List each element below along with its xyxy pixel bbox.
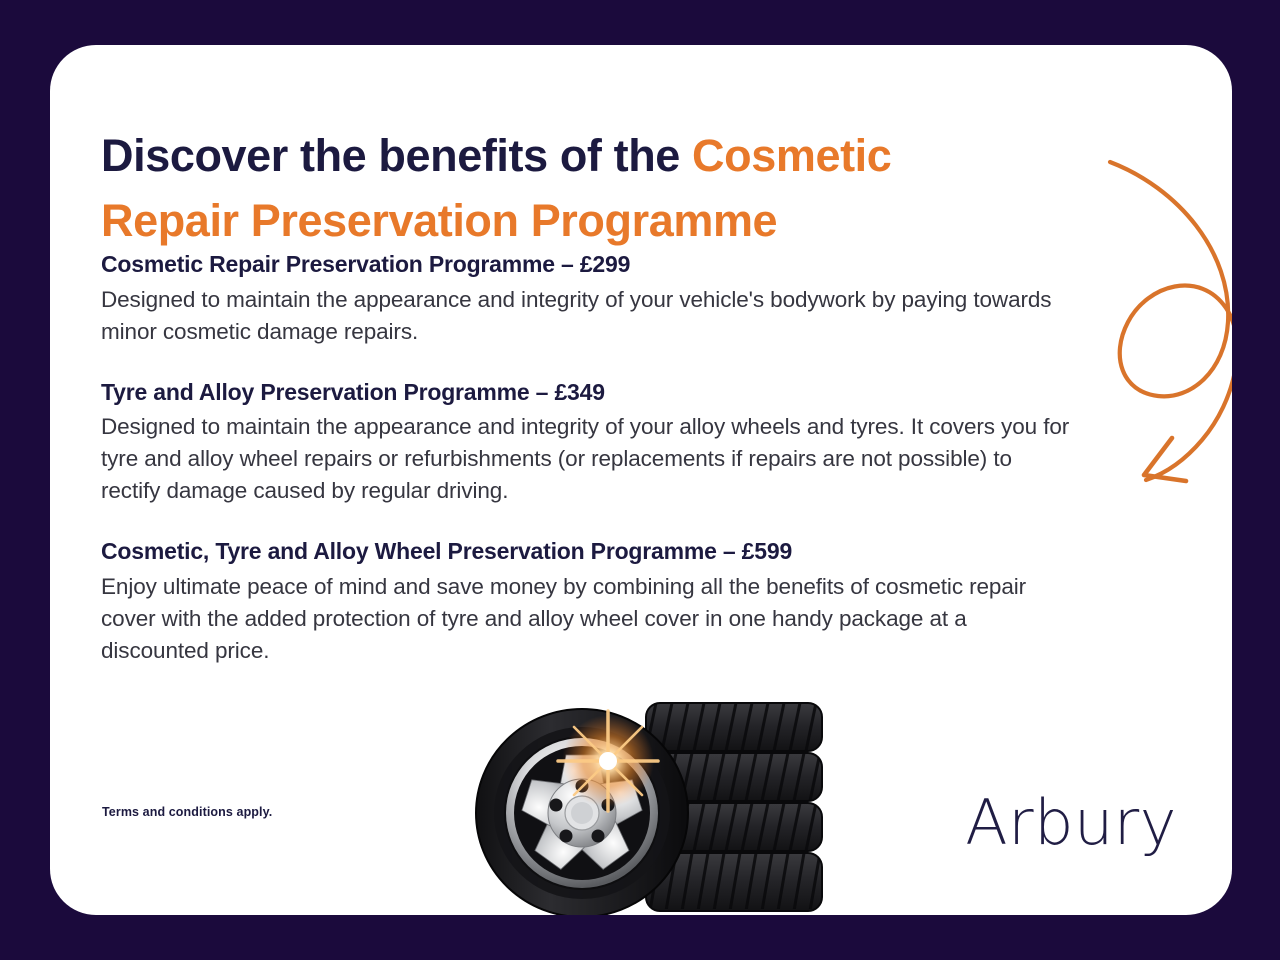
headline-line1-accent: Cosmetic [692, 130, 891, 181]
alloy-wheel [476, 709, 688, 915]
programme-list: Cosmetic Repair Preservation Programme –… [101, 250, 1073, 667]
programme-description: Designed to maintain the appearance and … [101, 284, 1073, 348]
programme-item: Cosmetic Repair Preservation Programme –… [101, 250, 1073, 348]
terms-and-conditions: Terms and conditions apply. [102, 805, 272, 819]
programme-description: Enjoy ultimate peace of mind and save mo… [101, 571, 1073, 667]
arbury-logo: Arbury [965, 792, 1177, 854]
headline-line1-navy: Discover the benefits of the [101, 130, 692, 181]
page-title: Discover the benefits of the CosmeticRep… [101, 123, 1061, 254]
content-card: Discover the benefits of the CosmeticRep… [50, 45, 1232, 915]
programme-description: Designed to maintain the appearance and … [101, 411, 1073, 507]
programme-title: Tyre and Alloy Preservation Programme – … [101, 378, 1073, 407]
programme-title: Cosmetic, Tyre and Alloy Wheel Preservat… [101, 537, 1073, 566]
curly-arrow-icon [1050, 100, 1232, 500]
tyre-stack-image [450, 685, 850, 915]
programme-item: Cosmetic, Tyre and Alloy Wheel Preservat… [101, 537, 1073, 667]
programme-item: Tyre and Alloy Preservation Programme – … [101, 378, 1073, 508]
headline-line2-accent: Repair Preservation Programme [101, 195, 777, 246]
programme-title: Cosmetic Repair Preservation Programme –… [101, 250, 1073, 279]
slide-canvas: Discover the benefits of the CosmeticRep… [0, 0, 1280, 960]
